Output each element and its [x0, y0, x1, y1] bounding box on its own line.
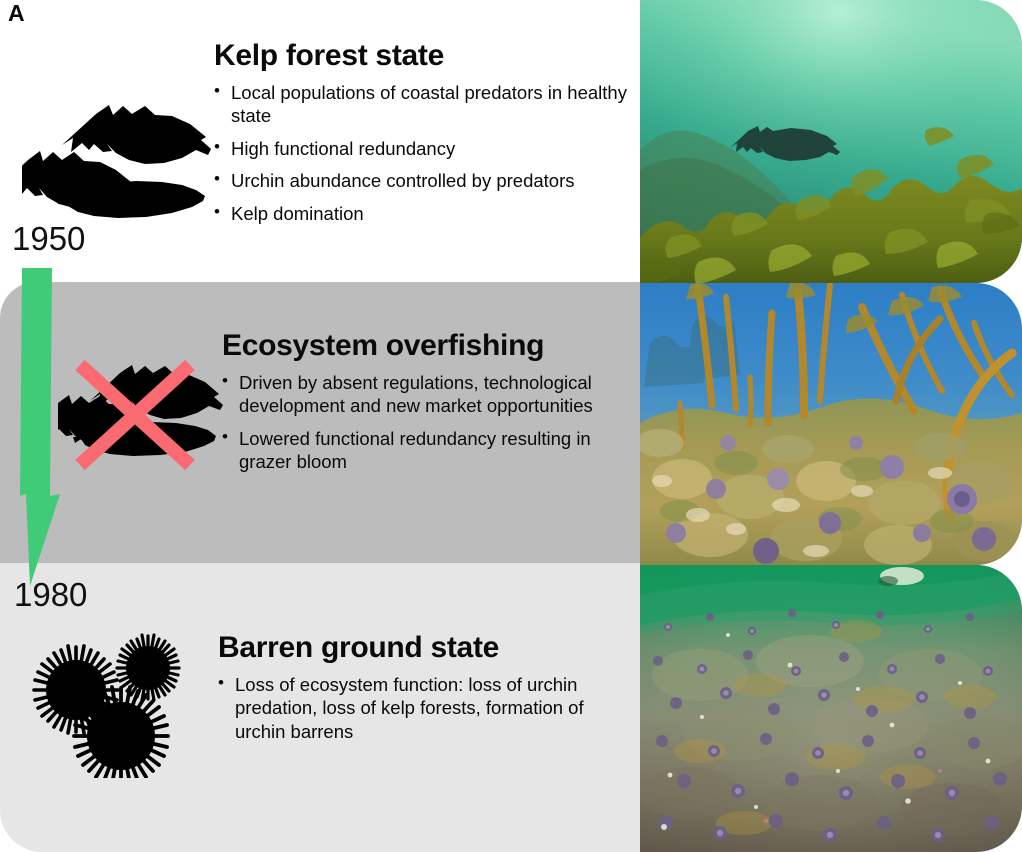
bullet-item: Urchin abundance controlled by predators [214, 169, 634, 192]
panel-heading-kelp-forest: Kelp forest state [214, 40, 634, 72]
bullet-item: Driven by absent regulations, technologi… [222, 371, 622, 418]
urchin-silhouettes-icon [26, 618, 206, 778]
panel-heading-barren-ground: Barren ground state [218, 632, 618, 664]
bullet-item: Kelp domination [214, 202, 634, 225]
bullet-list-barren-ground: Loss of ecosystem function: loss of urch… [218, 673, 618, 743]
panel-heading-overfishing: Ecosystem overfishing [222, 330, 622, 362]
bullet-item: High functional redundancy [214, 137, 634, 160]
panel-text-overfishing: Ecosystem overfishing Driven by absent r… [222, 330, 622, 474]
fish-silhouettes-icon [22, 92, 212, 222]
kelp-forest-underwater-photo [640, 0, 1022, 283]
bullet-list-kelp-forest: Local populations of coastal predators i… [214, 81, 634, 225]
urchin-barren-underwater-photo [640, 565, 1022, 852]
bullet-item: Loss of ecosystem function: loss of urch… [218, 673, 618, 743]
panel-text-kelp-forest: Kelp forest state Local populations of c… [214, 40, 634, 225]
panel-letter-label: A [8, 2, 25, 25]
bullet-item: Local populations of coastal predators i… [214, 81, 634, 128]
year-label-end: 1980 [14, 578, 87, 611]
panel-text-barren-ground: Barren ground state Loss of ecosystem fu… [218, 632, 618, 743]
figure-panel-a: A 1950 1980 [0, 0, 1022, 852]
bullet-item: Lowered functional redundancy resulting … [222, 427, 622, 474]
overfished-reef-underwater-photo [640, 283, 1022, 565]
bullet-list-overfishing: Driven by absent regulations, technologi… [222, 371, 622, 474]
year-label-start: 1950 [12, 222, 85, 255]
